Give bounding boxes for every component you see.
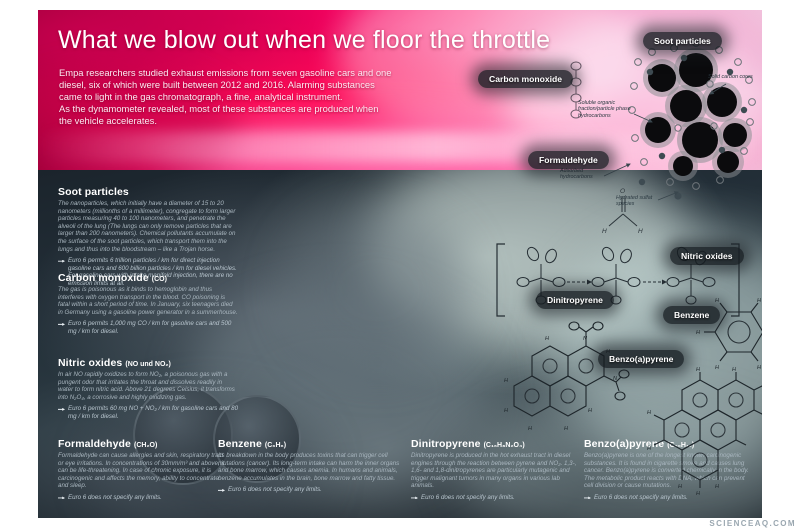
atom-label: H [588, 408, 593, 414]
dinitropyrene-molecule: H H H H H H H N N [500, 320, 630, 450]
atom-label: H [564, 426, 569, 432]
atom-label: H [696, 330, 701, 336]
callout-benzene[interactable]: Benzene [663, 306, 720, 324]
site-credit: SCIENCEAQ.COM [709, 519, 796, 528]
annotation-soluble-organic-fraction: Soluble organic fraction/particle phase … [578, 100, 634, 119]
atom-label: H [715, 484, 720, 490]
atom-label: H [678, 484, 683, 490]
atom-label: H [504, 378, 509, 384]
infographic-poster: What we blow out when we floor the throt… [0, 0, 800, 530]
atom-label: H [504, 408, 509, 414]
annotation-hydrated-sulfat-species: Hydrated sulfat species [616, 195, 664, 208]
atom-label: N [583, 336, 588, 342]
callout-formaldehyde[interactable]: Formaldehyde [528, 151, 609, 169]
atom-label: H [647, 410, 652, 416]
atom-label: H [647, 446, 652, 452]
atom-label: H [715, 298, 720, 304]
callout-soot-particles[interactable]: Soot particles [643, 32, 722, 50]
atom-label: H [602, 228, 607, 235]
artboard: What we blow out when we floor the throt… [38, 10, 762, 518]
callout-carbon-monoxide[interactable]: Carbon monoxide [478, 70, 573, 88]
soot-agglomerate [640, 48, 752, 181]
atom-label: O [620, 188, 625, 195]
annotation-adsorbed-hydrocarbons: Adsorbed hydrocarbons [560, 168, 608, 181]
annotation-solid-carbon-cores: Solid carbon cores [708, 74, 756, 80]
callout-benzoapyrene[interactable]: Benzo(a)pyrene [598, 350, 684, 368]
benzoapyrene-molecule: H H H H H H H H H [638, 368, 762, 498]
callout-dinitropyrene[interactable]: Dinitropyrene [536, 291, 614, 309]
atom-label: H [528, 426, 533, 432]
atom-label: H [696, 491, 701, 497]
callout-nitric-oxides[interactable]: Nitric oxides [670, 247, 744, 265]
atom-label: H [545, 336, 550, 342]
atom-label: H [638, 228, 643, 235]
atom-label: H [757, 298, 762, 304]
